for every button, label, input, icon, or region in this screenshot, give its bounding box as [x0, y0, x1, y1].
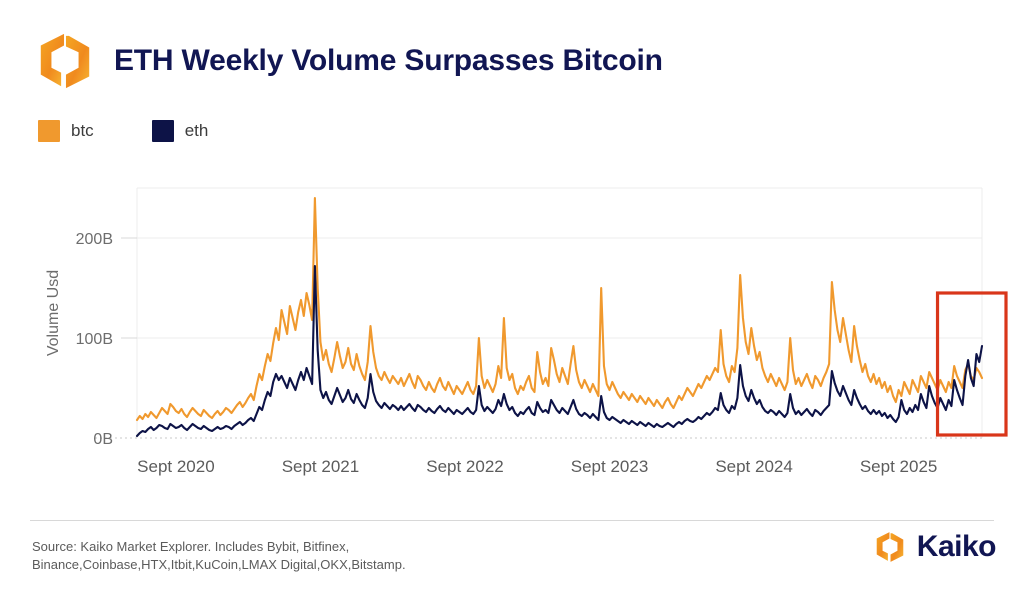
page-title: ETH Weekly Volume Surpasses Bitcoin	[114, 44, 663, 78]
legend-swatch-eth	[152, 120, 174, 142]
data-series-group	[137, 198, 982, 436]
legend-label-eth: eth	[185, 121, 209, 141]
chart-legend: btc eth	[38, 120, 208, 142]
volume-line-chart[interactable]: 0B100B200B Volume Usd Sept 2020Sept 2021…	[0, 160, 1024, 500]
x-tick-label: Sept 2025	[860, 457, 938, 476]
y-tick-label: 200B	[76, 231, 113, 248]
footer-brand: Kaiko	[873, 530, 996, 564]
legend-item-eth[interactable]: eth	[152, 120, 209, 142]
chart-header: ETH Weekly Volume Surpasses Bitcoin	[34, 30, 663, 92]
x-tick-label: Sept 2021	[282, 457, 360, 476]
footer-divider	[30, 520, 994, 521]
chart-plot-area[interactable]: 0B100B200B Volume Usd Sept 2020Sept 2021…	[0, 160, 1024, 500]
source-line-2: Binance,Coinbase,HTX,Itbit,KuCoin,LMAX D…	[32, 556, 592, 574]
y-tick-label: 100B	[76, 331, 113, 348]
legend-label-btc: btc	[71, 121, 94, 141]
legend-item-btc[interactable]: btc	[38, 120, 94, 142]
kaiko-hexagon-icon	[873, 530, 907, 564]
legend-swatch-btc	[38, 120, 60, 142]
x-tick-label: Sept 2020	[137, 457, 215, 476]
series-line-btc	[137, 198, 982, 420]
kaiko-hexagon-icon	[34, 30, 96, 92]
y-tick-label: 0B	[93, 431, 113, 448]
x-tick-label: Sept 2024	[715, 457, 793, 476]
chart-page: ETH Weekly Volume Surpasses Bitcoin btc …	[0, 0, 1024, 590]
series-line-eth	[137, 266, 982, 436]
source-line-1: Source: Kaiko Market Explorer. Includes …	[32, 538, 592, 556]
x-tick-label: Sept 2022	[426, 457, 504, 476]
x-axis-ticks: Sept 2020Sept 2021Sept 2022Sept 2023Sept…	[137, 457, 937, 476]
x-tick-label: Sept 2023	[571, 457, 649, 476]
source-note: Source: Kaiko Market Explorer. Includes …	[32, 538, 592, 574]
y-axis-ticks: 0B100B200B	[76, 231, 113, 448]
highlight-box	[938, 293, 1006, 435]
y-axis-title: Volume Usd	[45, 270, 62, 356]
highlight-box-annotation	[938, 293, 1006, 435]
y-axis-title-text: Volume Usd	[45, 270, 62, 356]
brand-wordmark: Kaiko	[917, 530, 996, 564]
